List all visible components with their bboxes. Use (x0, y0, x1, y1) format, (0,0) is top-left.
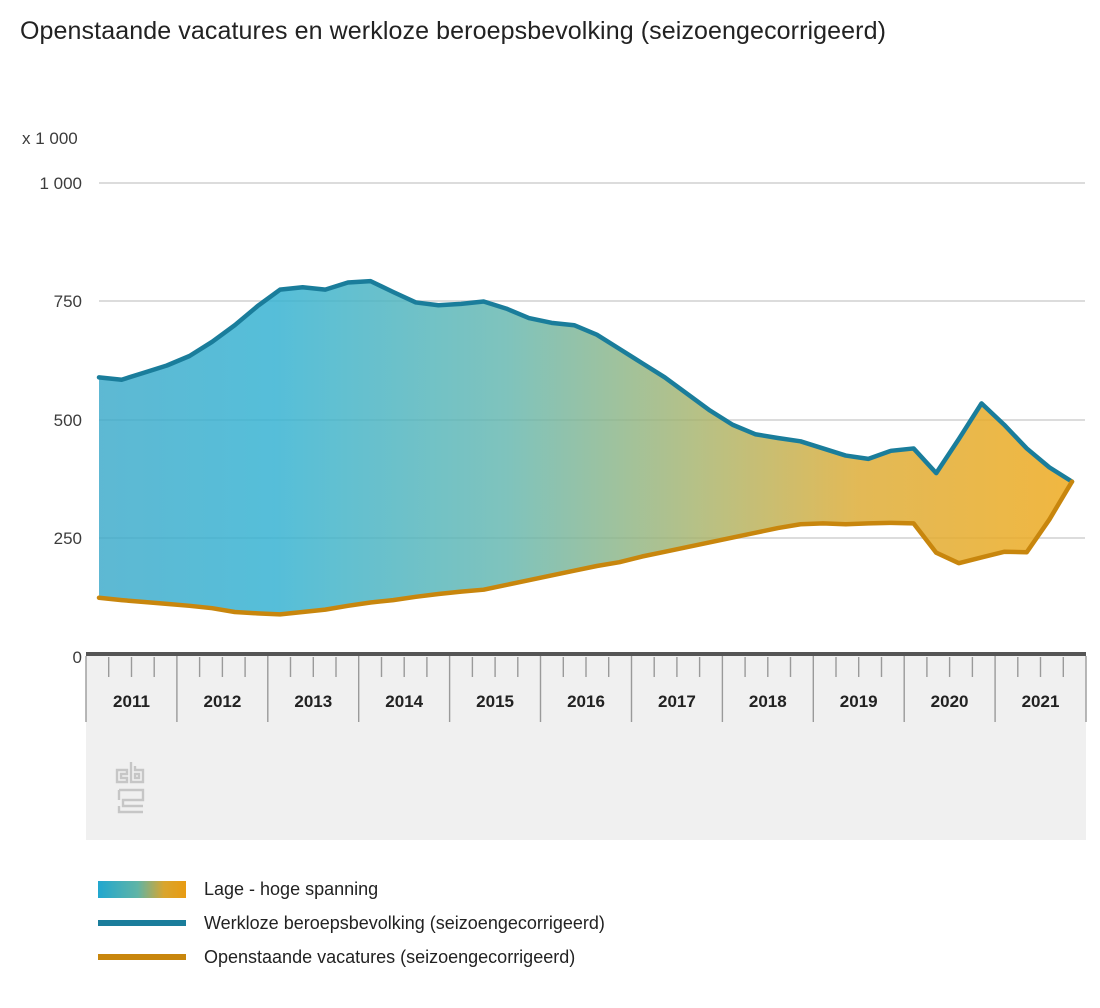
legend-item-vacancies[interactable]: Openstaande vacatures (seizoengecorrigee… (98, 940, 998, 974)
chart-canvas: 1 000 750 500 250 0 20112012201320142015… (0, 0, 1100, 868)
legend-item-spanning[interactable]: Lage - hoge spanning (98, 872, 998, 906)
legend-item-unemployment[interactable]: Werkloze beroepsbevolking (seizoengecorr… (98, 906, 998, 940)
y-tick-750: 750 (54, 292, 82, 311)
x-tick-2018: 2018 (749, 692, 787, 711)
x-tick-2017: 2017 (658, 692, 696, 711)
y-tick-1000: 1 000 (39, 174, 82, 193)
y-tick-500: 500 (54, 411, 82, 430)
chart-page: Openstaande vacatures en werkloze beroep… (0, 0, 1100, 1008)
x-tick-2020: 2020 (931, 692, 969, 711)
x-axis-band: 2011201220132014201520162017201820192020… (86, 652, 1086, 840)
x-tick-2011: 2011 (113, 692, 150, 711)
legend-label-unemployment: Werkloze beroepsbevolking (seizoengecorr… (204, 913, 605, 934)
x-tick-2019: 2019 (840, 692, 878, 711)
y-tick-0: 0 (73, 648, 82, 667)
y-tick-250: 250 (54, 529, 82, 548)
legend-line-orange-icon (98, 954, 186, 960)
legend-label-spanning: Lage - hoge spanning (204, 879, 378, 900)
legend-label-vacancies: Openstaande vacatures (seizoengecorrigee… (204, 947, 575, 968)
x-tick-2016: 2016 (567, 692, 605, 711)
legend-line-teal-icon (98, 920, 186, 926)
x-tick-2015: 2015 (476, 692, 514, 711)
x-tick-2014: 2014 (385, 692, 423, 711)
y-axis-tick-labels: 1 000 750 500 250 0 (39, 174, 82, 667)
legend-gradient-swatch-icon (98, 881, 186, 898)
x-tick-2012: 2012 (203, 692, 241, 711)
x-tick-2013: 2013 (294, 692, 332, 711)
chart-legend: Lage - hoge spanning Werkloze beroepsbev… (98, 872, 998, 974)
x-tick-2021: 2021 (1022, 692, 1060, 711)
